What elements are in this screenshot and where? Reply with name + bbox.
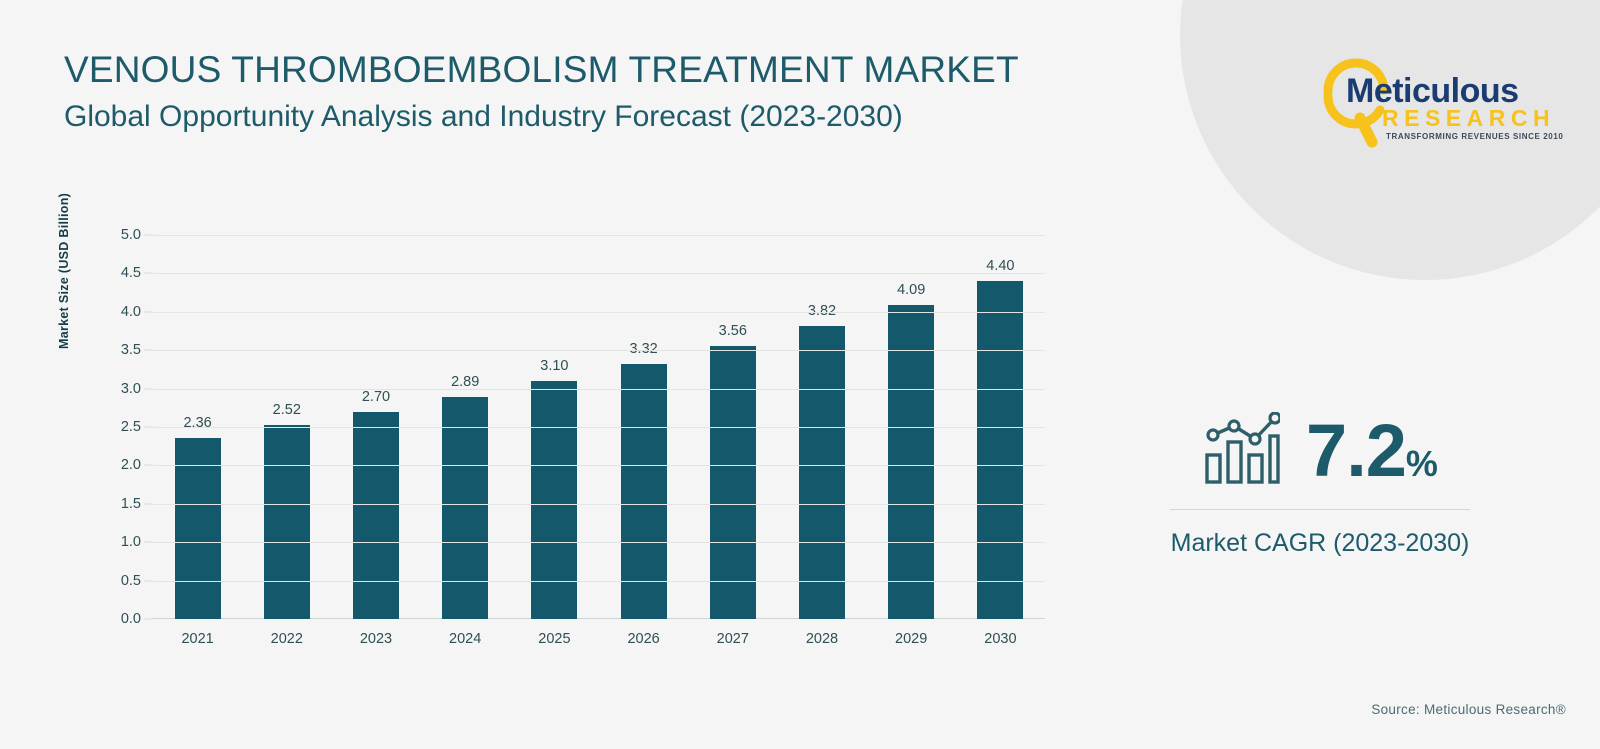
- y-axis-tick-label: 2.5: [121, 419, 141, 435]
- bar[interactable]: [531, 381, 577, 619]
- x-axis-tick-label: 2030: [984, 631, 1016, 647]
- bar[interactable]: [710, 346, 756, 619]
- source-note: Source: Meticulous Research®: [1371, 702, 1566, 717]
- y-axis-tick-mark: [144, 503, 153, 504]
- gridline: [153, 581, 1045, 582]
- cagr-percent-sign: %: [1406, 443, 1438, 484]
- cagr-number: 7.2: [1306, 409, 1406, 492]
- bar-chart-line-icon: [1202, 412, 1280, 491]
- y-axis-title: Market Size (USD Billion): [57, 325, 71, 349]
- bar[interactable]: [442, 397, 488, 619]
- x-axis-tick-label: 2022: [271, 631, 303, 647]
- cagr-caption: Market CAGR (2023-2030): [1150, 529, 1490, 558]
- logo-word-research: RESEARCH: [1382, 105, 1555, 131]
- page-subtitle: Global Opportunity Analysis and Industry…: [64, 98, 1019, 136]
- x-axis-tick-label: 2024: [449, 631, 481, 647]
- bar-value-label: 3.82: [808, 303, 836, 319]
- bar-value-label: 4.40: [986, 258, 1014, 274]
- bar-value-label: 2.52: [273, 402, 301, 418]
- y-axis-tick-mark: [144, 580, 153, 581]
- y-axis-tick-label: 1.5: [121, 496, 141, 512]
- x-axis-tick-label: 2023: [360, 631, 392, 647]
- gridline: [153, 235, 1045, 236]
- y-axis-tick-mark: [144, 235, 153, 236]
- y-axis-tick-label: 5.0: [121, 227, 141, 243]
- y-axis-tick-mark: [144, 465, 153, 466]
- meticulous-research-logo: Meticulous RESEARCH TRANSFORMING REVENUE…: [1320, 56, 1564, 148]
- gridline: [153, 542, 1045, 543]
- y-axis-tick-mark: [144, 619, 153, 620]
- bar[interactable]: [977, 281, 1023, 619]
- gridline: [153, 427, 1045, 428]
- y-axis-tick-label: 4.5: [121, 265, 141, 281]
- x-axis-tick-label: 2029: [895, 631, 927, 647]
- x-axis-tick-label: 2026: [627, 631, 659, 647]
- y-axis-tick-mark: [144, 350, 153, 351]
- x-axis-tick-label: 2025: [538, 631, 570, 647]
- y-axis-tick-mark: [144, 542, 153, 543]
- bar-value-label: 2.70: [362, 389, 390, 405]
- gridline: [153, 389, 1045, 390]
- gridline: [153, 504, 1045, 505]
- gridline: [153, 465, 1045, 466]
- y-axis-tick-label: 2.0: [121, 457, 141, 473]
- logo-graphic: Meticulous RESEARCH TRANSFORMING REVENUE…: [1320, 56, 1564, 148]
- bar[interactable]: [888, 305, 934, 619]
- bar-value-label: 3.10: [540, 358, 568, 374]
- gridline: [153, 312, 1045, 313]
- page-title: VENOUS THROMBOEMBOLISM TREATMENT MARKET: [64, 48, 1019, 92]
- y-axis-tick-label: 0.5: [121, 573, 141, 589]
- bar-value-label: 3.56: [719, 323, 747, 339]
- y-axis-tick-mark: [144, 311, 153, 312]
- y-axis-tick-label: 1.0: [121, 534, 141, 550]
- x-axis-tick-label: 2028: [806, 631, 838, 647]
- x-axis-tick-label: 2027: [717, 631, 749, 647]
- gridline: [153, 350, 1045, 351]
- plot-area: 2.3620212.5220222.7020232.8920243.102025…: [153, 235, 1045, 619]
- bar-value-label: 3.32: [629, 341, 657, 357]
- bar[interactable]: [799, 326, 845, 619]
- y-axis-tick-mark: [144, 388, 153, 389]
- bar[interactable]: [264, 425, 310, 619]
- logo-tagline: TRANSFORMING REVENUES SINCE 2010: [1386, 132, 1563, 141]
- y-axis-tick-label: 3.5: [121, 342, 141, 358]
- bar[interactable]: [353, 412, 399, 619]
- bar-value-label: 2.36: [183, 415, 211, 431]
- cagr-panel: 7.2% Market CAGR (2023-2030): [1150, 405, 1490, 558]
- gridline: [153, 273, 1045, 274]
- x-axis-tick-label: 2021: [181, 631, 213, 647]
- y-axis-tick-label: 0.0: [121, 611, 141, 627]
- y-axis-tick-mark: [144, 427, 153, 428]
- bar-value-label: 4.09: [897, 282, 925, 298]
- y-axis-tick-label: 3.0: [121, 381, 141, 397]
- y-axis-tick-label: 4.0: [121, 304, 141, 320]
- y-axis-tick-mark: [144, 273, 153, 274]
- cagr-divider: [1170, 509, 1470, 510]
- cagr-value: 7.2%: [1306, 414, 1438, 488]
- chart-header: VENOUS THROMBOEMBOLISM TREATMENT MARKET …: [64, 48, 1019, 135]
